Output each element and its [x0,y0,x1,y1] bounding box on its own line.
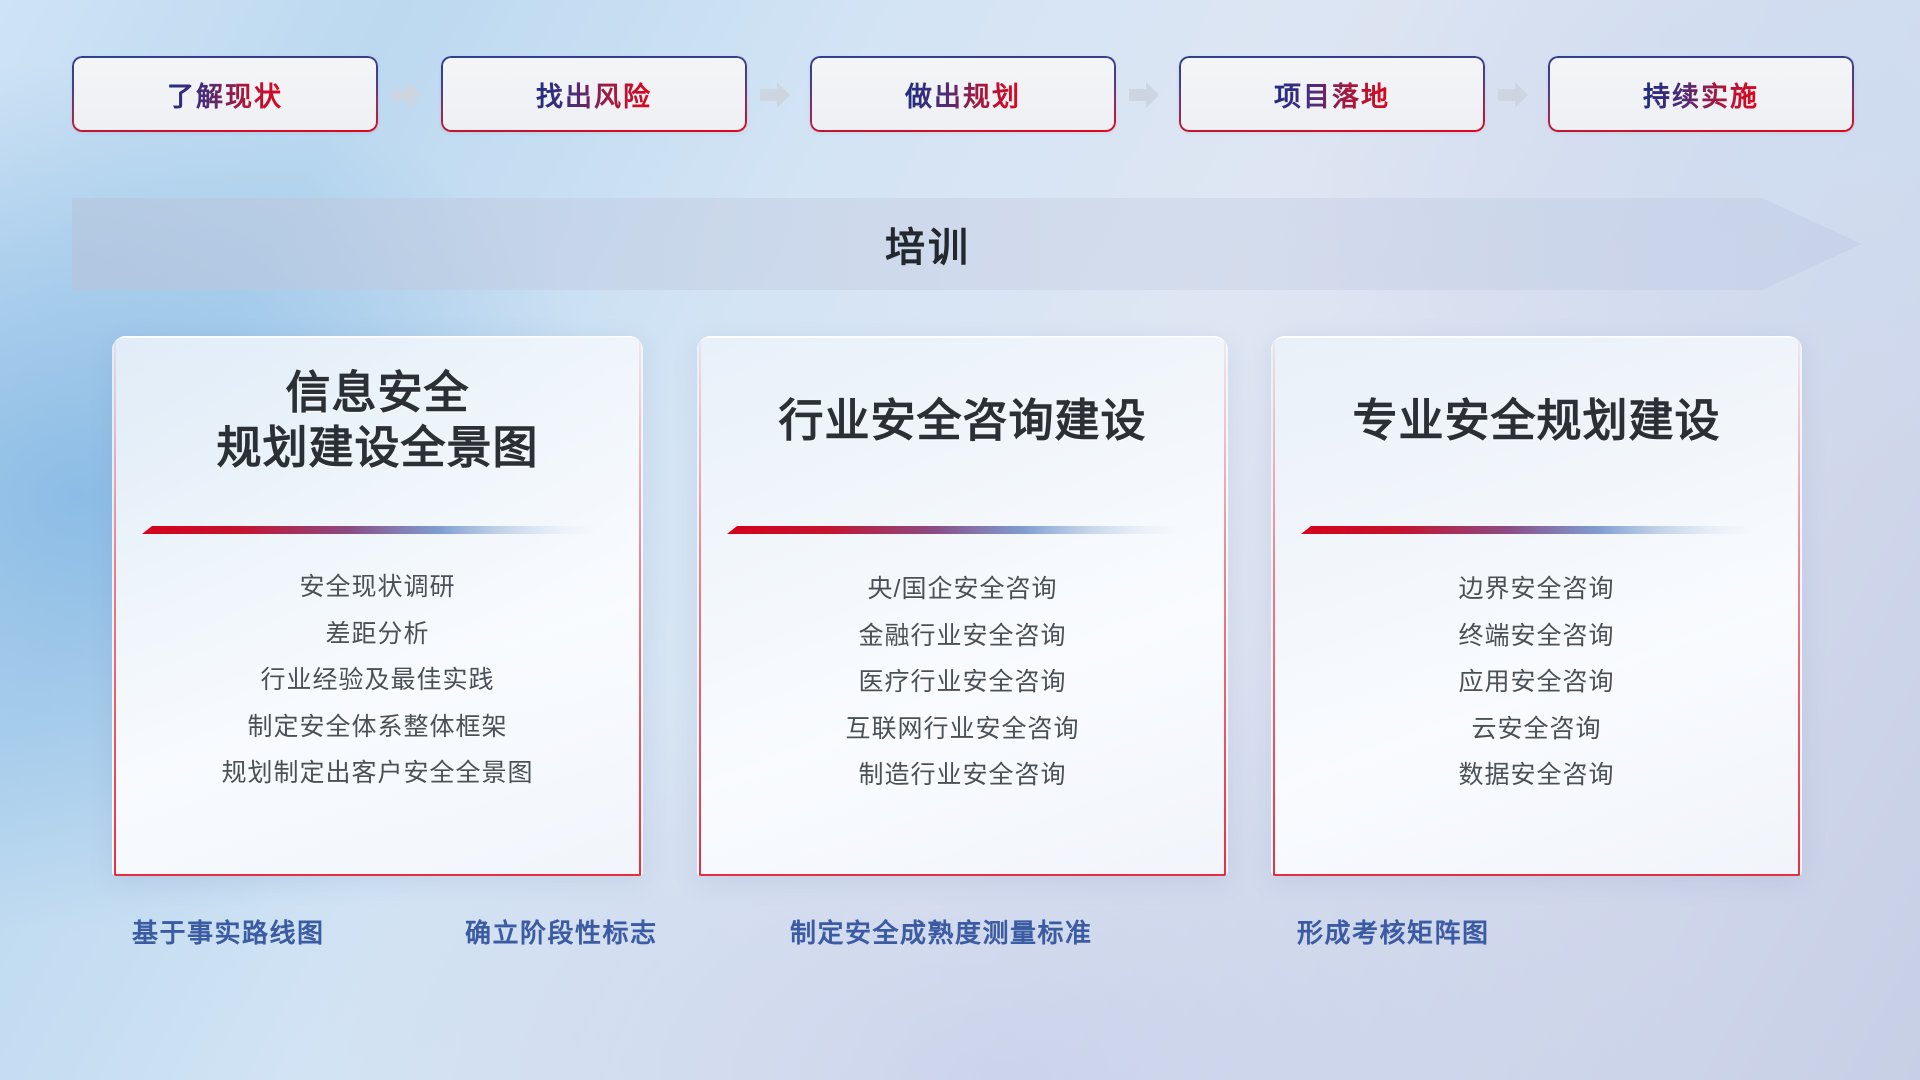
card-title-3: 专业安全规划建设 [1271,394,1802,449]
list-item: 金融行业安全咨询 [858,623,1066,651]
training-banner: 培训 [72,198,1862,290]
card-professional-security-planning[interactable]: 专业安全规划建设 边界安 [1271,336,1802,876]
caption-2: 确立阶段性标志 [465,906,658,956]
caption-4: 形成考核矩阵图 [1297,906,1490,956]
card-divider-1 [142,526,594,536]
caption-1: 基于事实路线图 [132,906,325,956]
card-industry-security-consulting[interactable]: 行业安全咨询建设 央/国 [697,336,1228,876]
list-item: 云安全咨询 [1471,716,1601,744]
card-divider-3 [1301,526,1753,536]
card-title-2-line-1: 行业安全咨询建设 [697,394,1228,449]
step-arrow-icon-1 [391,82,421,108]
list-item: 差距分析 [325,621,429,649]
card-information-security-blueprint[interactable]: 信息安全 规划建设全景图 [112,336,643,876]
slide-canvas: 了解现状 找出风险 做出规划 项目落地 持续实施 [0,0,1920,1080]
step-arrow-icon-2 [760,82,790,108]
card-title-2: 行业安全咨询建设 [697,394,1228,449]
list-item: 应用安全咨询 [1458,669,1614,697]
step-label-5: 持续实施 [1643,75,1759,114]
list-item: 互联网行业安全咨询 [845,716,1079,744]
step-button-1[interactable]: 了解现状 [72,56,378,132]
step-button-2[interactable]: 找出风险 [441,56,747,132]
card-top-sheen [112,336,643,338]
list-item: 规划制定出客户安全全景图 [221,760,533,788]
card-list-2: 央/国企安全咨询 金融行业安全咨询 医疗行业安全咨询 互联网行业安全咨询 制造行… [697,576,1228,790]
card-row: 信息安全 规划建设全景图 [0,336,1920,876]
list-item: 安全现状调研 [299,574,455,602]
card-divider-2 [727,526,1179,536]
card-top-sheen [1271,336,1802,338]
step-arrow-icon-3 [1129,82,1159,108]
training-banner-label: 培训 [72,198,1784,290]
step-label-2: 找出风险 [536,75,652,114]
card-title-1: 信息安全 规划建设全景图 [112,366,643,476]
card-title-1-line-1: 信息安全 [112,366,643,421]
card-title-1-line-2: 规划建设全景图 [112,421,643,476]
step-button-4[interactable]: 项目落地 [1179,56,1485,132]
list-item: 终端安全咨询 [1458,623,1614,651]
list-item: 央/国企安全咨询 [868,576,1058,604]
caption-3: 制定安全成熟度测量标准 [790,906,1093,956]
process-step-row: 了解现状 找出风险 做出规划 项目落地 持续实施 [0,56,1920,132]
list-item: 医疗行业安全咨询 [858,669,1066,697]
card-top-sheen [697,336,1228,338]
step-button-3[interactable]: 做出规划 [810,56,1116,132]
step-button-5[interactable]: 持续实施 [1548,56,1854,132]
list-item: 行业经验及最佳实践 [260,667,494,695]
step-label-3: 做出规划 [905,75,1021,114]
caption-row: 基于事实路线图 确立阶段性标志 制定安全成熟度测量标准 形成考核矩阵图 [0,906,1920,956]
card-title-3-line-1: 专业安全规划建设 [1271,394,1802,449]
card-list-1: 安全现状调研 差距分析 行业经验及最佳实践 制定安全体系整体框架 规划制定出客户… [112,574,643,788]
list-item: 制造行业安全咨询 [858,762,1066,790]
list-item: 数据安全咨询 [1458,762,1614,790]
step-label-1: 了解现状 [167,75,283,114]
list-item: 制定安全体系整体框架 [247,714,507,742]
list-item: 边界安全咨询 [1458,576,1614,604]
card-list-3: 边界安全咨询 终端安全咨询 应用安全咨询 云安全咨询 数据安全咨询 [1271,576,1802,790]
step-arrow-icon-4 [1498,82,1528,108]
step-label-4: 项目落地 [1274,75,1390,114]
